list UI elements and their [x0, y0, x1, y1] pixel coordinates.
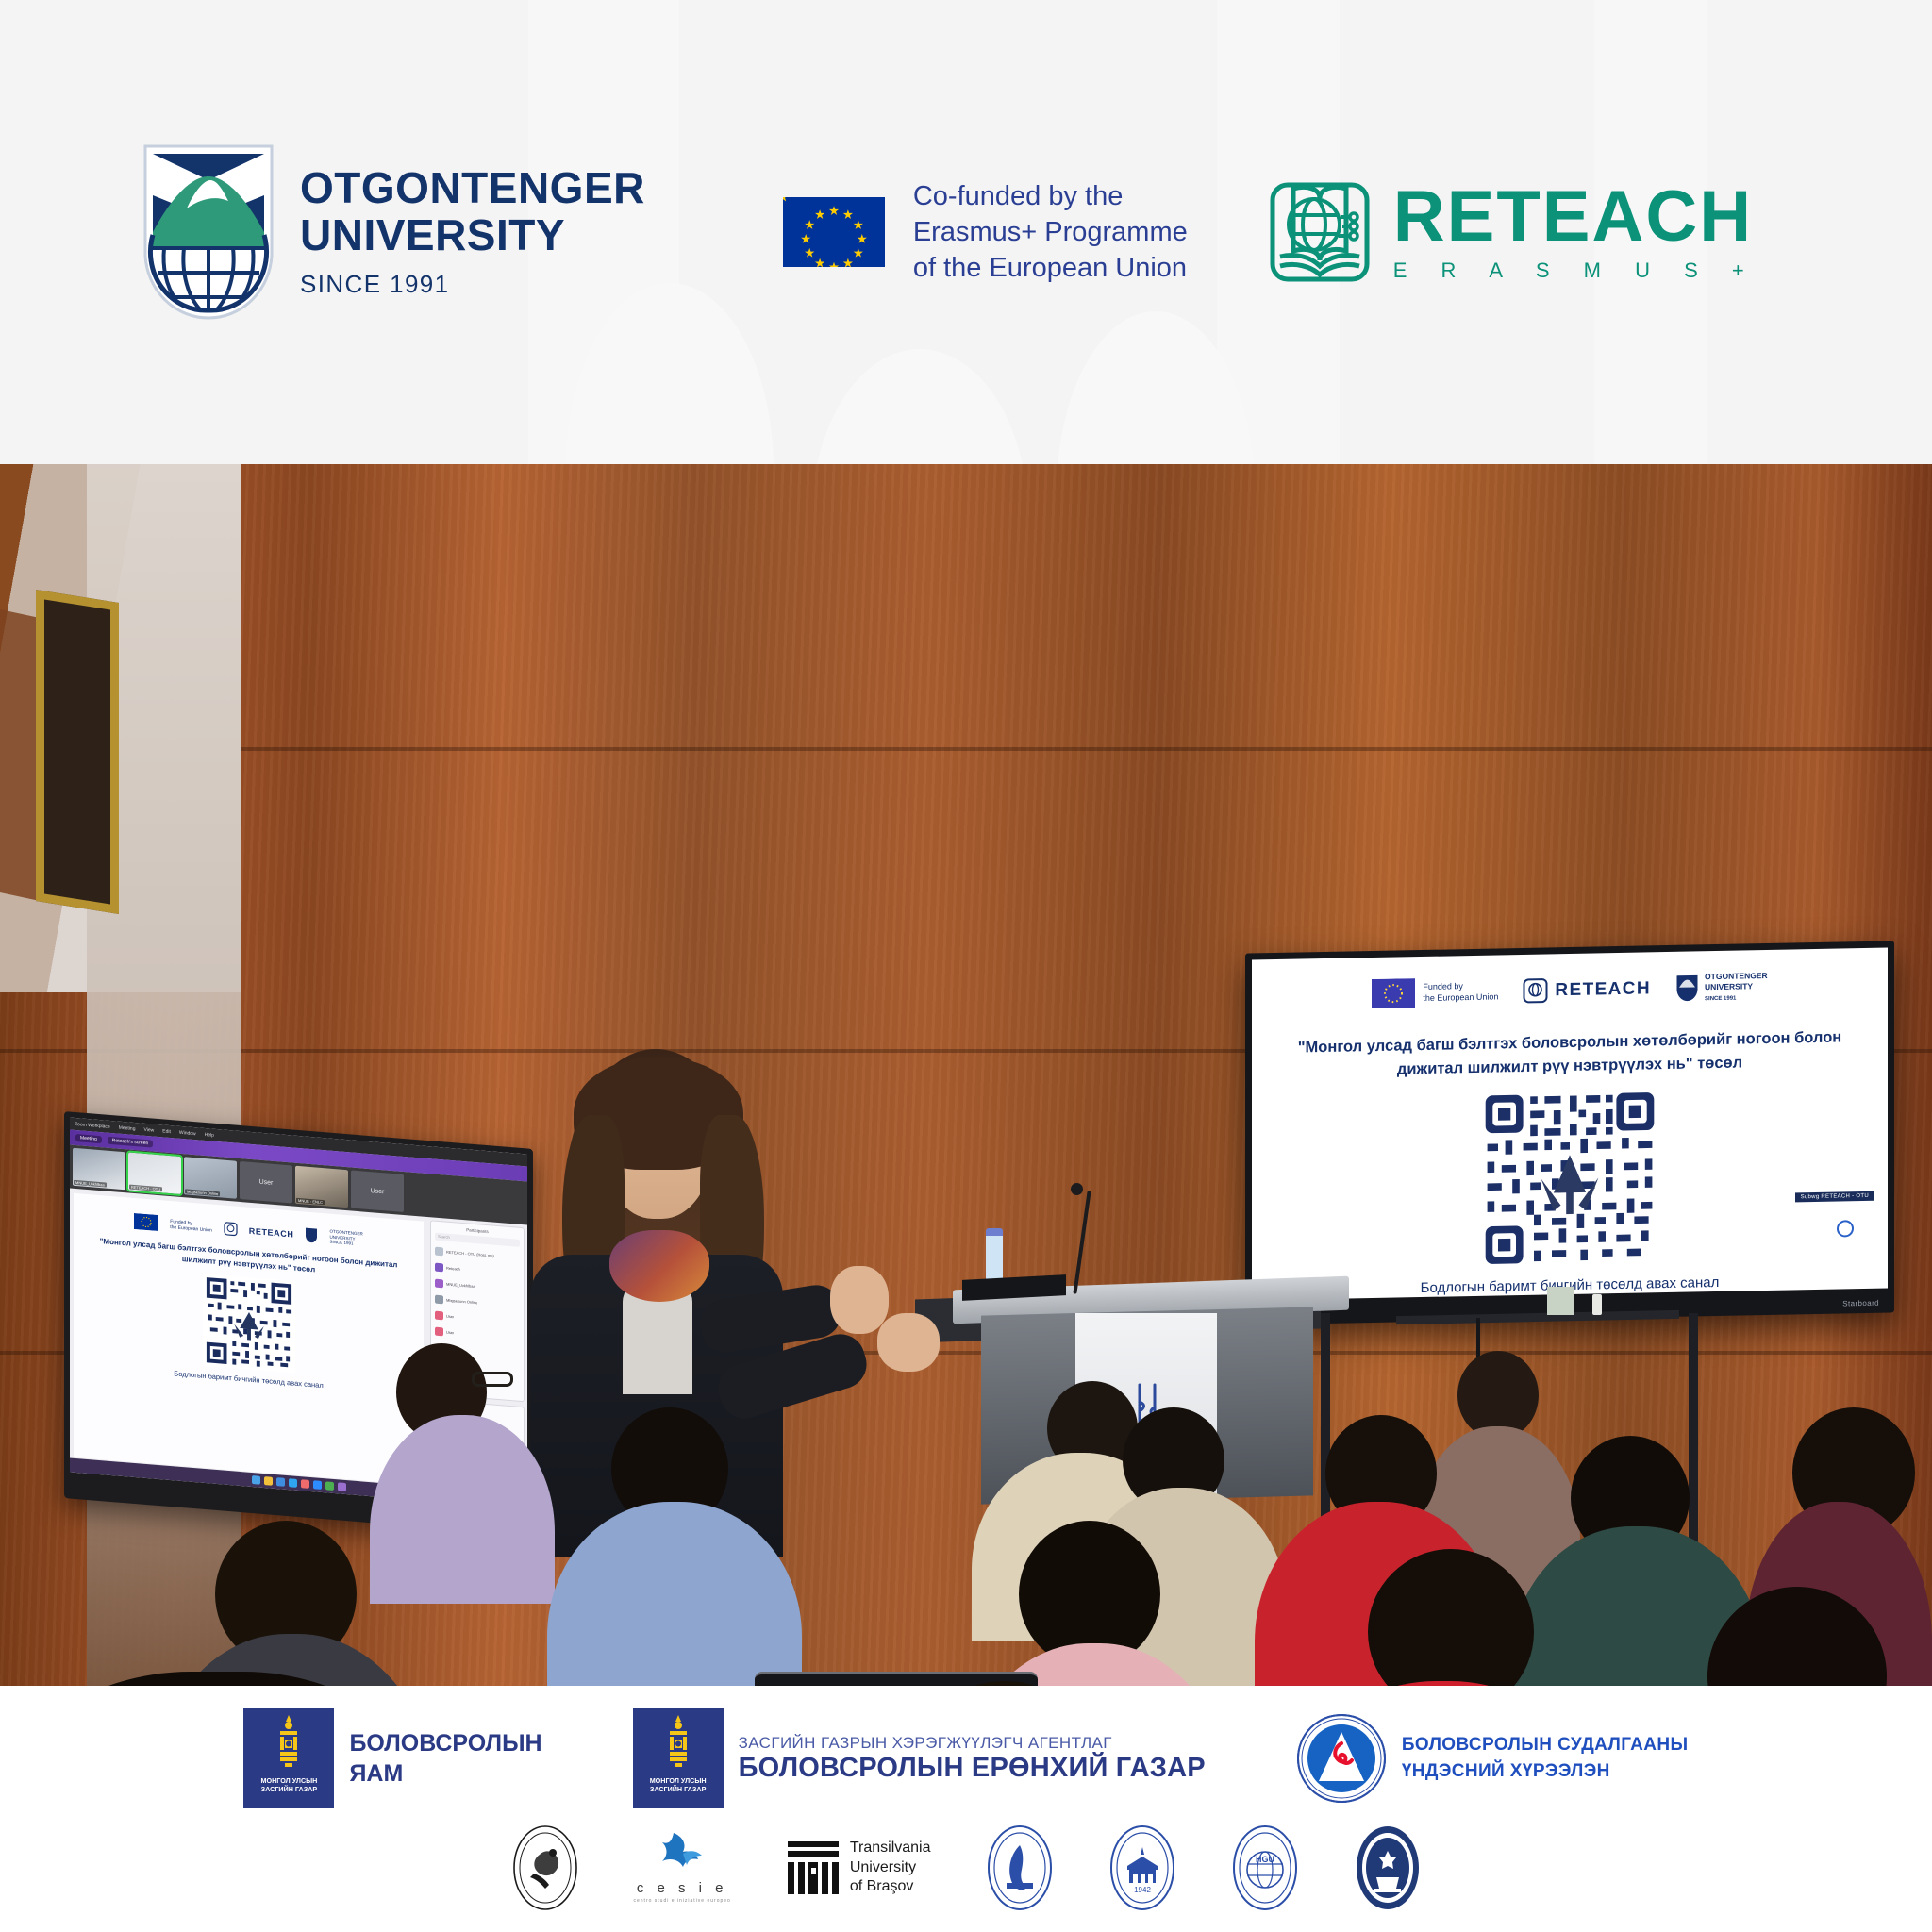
qr-code-right[interactable]	[1480, 1088, 1659, 1271]
soyombo-icon	[666, 1714, 691, 1773]
otu-shield-icon	[305, 1227, 318, 1244]
footer-logo-mongolian-university	[1354, 1829, 1422, 1907]
menu-item-edit[interactable]: Edit	[162, 1128, 171, 1135]
meeting-status-pill: Meeting	[75, 1134, 102, 1143]
otu-logo-line2: UNIVERSITY	[1705, 981, 1753, 991]
transilvania-line2: University	[850, 1858, 931, 1878]
participant-thumbnail[interactable]: RETEACH - OTU	[128, 1152, 181, 1194]
avatar	[435, 1247, 443, 1257]
participant-thumbnail[interactable]: MNUE - ENLC	[295, 1166, 348, 1208]
screen-share-pill: Reteach's screen	[108, 1137, 153, 1148]
menu-item-zoom-workplace[interactable]: Zoom Workplace	[75, 1121, 110, 1129]
mongolia-government-emblem-icon: МОНГОЛ УЛСЫН ЗАСГИЙН ГАЗАР	[633, 1708, 724, 1808]
participant-name: RETEACH - OTU (Host, me)	[446, 1250, 494, 1258]
participant-thumbnail[interactable]: MNUE_Uvkhlbaa	[73, 1148, 125, 1191]
university-name-line1: OTGONTENGER	[300, 165, 645, 212]
education-research-institute-seal-icon	[1296, 1713, 1387, 1804]
emblem-line2: ЗАСГИЙН ГАЗАР	[261, 1785, 318, 1793]
dock-icon-finder[interactable]	[252, 1475, 260, 1485]
svg-text:HGU: HGU	[1256, 1855, 1274, 1864]
reteach-icon	[224, 1222, 238, 1237]
soyombo-icon	[276, 1714, 301, 1773]
otu-logo-text: OTGONTENGERUNIVERSITYSINCE 1991	[329, 1229, 362, 1248]
reteach-subtitle: E R A S M U S +	[1393, 258, 1758, 283]
transilvania-line1: Transilvania	[850, 1839, 931, 1858]
footer-ministry-row: МОНГОЛ УЛСЫН ЗАСГИЙН ГАЗАР БОЛОВСРОЛЫН Я…	[0, 1708, 1932, 1808]
participant-name: User	[446, 1330, 454, 1336]
otu-logo-line1: OTGONTENGER	[1705, 971, 1768, 981]
thumbnail-user-label: User	[240, 1161, 292, 1204]
otgontenger-shield-icon	[142, 142, 275, 322]
eu-logo-line2: the European Union	[1423, 991, 1498, 1003]
eyeglasses-icon	[472, 1372, 513, 1387]
university-since: SINCE 1991	[300, 270, 645, 299]
european-union-flag-icon	[783, 197, 885, 267]
speaker-hand-left	[830, 1266, 889, 1334]
global-university-seal-icon: HGU	[1231, 1824, 1299, 1911]
thumbnail-label: RETEACH - OTU	[129, 1185, 162, 1192]
eu-logo-line1: Funded by	[1423, 981, 1463, 991]
whiteboard-session-badge: Subwg RETEACH - OTU	[1795, 1191, 1874, 1203]
avatar	[435, 1279, 443, 1289]
institute-label-line2: ҮНДЭСНИЙ ХҮРЭЭЛЭН	[1402, 1758, 1689, 1785]
university-of-padua-seal-icon	[511, 1824, 579, 1911]
footer-partner-universities: c e s i e centro studi e iniziative euro…	[0, 1829, 1932, 1907]
participant-thumbnail[interactable]: User	[240, 1161, 292, 1204]
emblem-line2: ЗАСГИЙН ГАЗАР	[650, 1785, 707, 1793]
whiteboard-stand	[1689, 1313, 1698, 1549]
otgontenger-university-logo: OTGONTENGER UNIVERSITY SINCE 1991	[142, 142, 645, 322]
qr-code-left[interactable]	[203, 1274, 295, 1374]
eu-flag-icon	[134, 1213, 158, 1231]
water-bottle	[986, 1228, 1003, 1281]
agency-title: БОЛОВСРОЛЫН ЕРӨНХИЙ ГАЗАР	[739, 1753, 1206, 1784]
reteach-wordmark: RETEACH	[1393, 181, 1758, 253]
menu-item-view[interactable]: View	[144, 1126, 155, 1133]
avatar	[435, 1295, 443, 1305]
slide-logo-row-right: Funded by the European Union RETEACH	[1252, 969, 1888, 1013]
dock-icon-zoom[interactable]	[313, 1480, 322, 1490]
dock-icon-files[interactable]	[338, 1482, 346, 1491]
agency-subtitle: ЗАСГИЙН ГАЗРЫН ХЭРЭГЖҮҮЛЭГЧ АГЕНТЛАГ	[739, 1734, 1206, 1753]
shelf-box	[1547, 1287, 1574, 1315]
framed-picture	[36, 590, 119, 914]
footer-logo-ministry-of-education: МОНГОЛ УЛСЫН ЗАСГИЙН ГАЗАР БОЛОВСРОЛЫН Я…	[243, 1708, 541, 1808]
participant-thumbnail[interactable]: User	[351, 1170, 404, 1212]
dock-icon-photos[interactable]	[301, 1479, 309, 1489]
reteach-logo: RETEACH E R A S M U S +	[1269, 181, 1758, 283]
footer-logo-transilvania-university: Transilvania University of Braşov	[786, 1829, 931, 1907]
participant-name: Reteach	[446, 1266, 460, 1272]
eu-flag-icon	[1372, 979, 1415, 1009]
avatar	[435, 1263, 443, 1273]
university-name-line2: UNIVERSITY	[300, 212, 645, 259]
menu-item-window[interactable]: Window	[179, 1129, 196, 1136]
poster-page: OTGONTENGER UNIVERSITY SINCE 1991	[0, 0, 1932, 1932]
mnue-seal-icon	[986, 1824, 1054, 1911]
avatar	[435, 1327, 443, 1337]
shared-slide-left: Funded bythe European Union RETEACH OTGO…	[74, 1193, 424, 1486]
emblem-line1: МОНГОЛ УЛСЫН	[650, 1776, 707, 1785]
thumbnail-label: MNUE_Uvkhlbaa	[74, 1180, 107, 1188]
reteach-logo-text: RETEACH	[249, 1225, 294, 1239]
footer-logo-mandakh-global-university: HGU	[1231, 1829, 1299, 1907]
eu-funding-text: Co-funded by the Erasmus+ Programme of t…	[913, 178, 1188, 287]
participant-name: MNUE_Uvkhlbaa	[446, 1282, 475, 1289]
speaker-hand-right	[877, 1313, 940, 1372]
reteach-logo-text: RETEACH	[1555, 978, 1651, 1001]
dock-icon-safari[interactable]	[289, 1478, 297, 1488]
microphone-head-icon	[1071, 1183, 1083, 1195]
footer-logo-cesie: c e s i e centro studi e iniziative euro…	[634, 1829, 731, 1907]
institute-label-line1: БОЛОВСРОЛЫН СУДАЛГААНЫ	[1402, 1732, 1689, 1758]
eu-text-line1: Co-funded by the	[913, 178, 1188, 214]
participant-name: Mbgsesunn Online	[446, 1298, 477, 1306]
cesie-subtitle: centro studi e iniziative europeo	[634, 1898, 731, 1904]
footer-logo-general-authority-education: МОНГОЛ УЛСЫН ЗАСГИЙН ГАЗАР ЗАСГИЙН ГАЗРЫ…	[633, 1708, 1206, 1808]
reteach-book-globe-icon	[1269, 181, 1371, 283]
ministry-label-line2: ЯАМ	[349, 1758, 541, 1790]
footer-partners: МОНГОЛ УЛСЫН ЗАСГИЙН ГАЗАР БОЛОВСРОЛЫН Я…	[0, 1686, 1932, 1932]
university-seal-icon	[1354, 1824, 1422, 1911]
thumbnail-label: Mbgsesunn Online	[185, 1189, 220, 1196]
slide-title-right: "Монгол улсад багш бэлтгэх боловсролын х…	[1290, 1025, 1850, 1083]
university-1942-seal-icon: 1942	[1108, 1824, 1176, 1911]
right-interactive-whiteboard[interactable]: Funded by the European Union RETEACH	[1245, 941, 1894, 1324]
participant-thumbnail[interactable]: Mbgsesunn Online	[184, 1157, 237, 1199]
shelf-bottle	[1592, 1294, 1602, 1315]
right-screen-display: Funded by the European Union RETEACH	[1252, 948, 1888, 1301]
reteach-icon	[1523, 978, 1548, 1005]
speaker-scarf	[609, 1230, 709, 1302]
cesie-wordmark: c e s i e	[637, 1880, 728, 1896]
svg-text:1942: 1942	[1134, 1886, 1151, 1894]
dock-icon-notes[interactable]	[264, 1476, 273, 1486]
dock-icon-mail[interactable]	[276, 1477, 285, 1487]
otu-shield-icon	[1675, 974, 1699, 1002]
footer-logo-mnue	[986, 1829, 1054, 1907]
header-banner: OTGONTENGER UNIVERSITY SINCE 1991	[0, 0, 1932, 464]
avatar	[435, 1311, 443, 1321]
participant-name: User	[446, 1314, 454, 1320]
whiteboard-cursor-icon	[1837, 1220, 1854, 1237]
emblem-line1: МОНГОЛ УЛСЫН	[261, 1776, 318, 1785]
event-photograph: Zoom Workplace Meeting View Edit Window …	[0, 464, 1932, 1686]
eu-text-line2: Erasmus+ Programme	[913, 214, 1188, 250]
thumbnail-label: MNUE - ENLC	[296, 1198, 325, 1205]
footer-logo-education-research-institute: БОЛОВСРОЛЫН СУДАЛГААНЫ ҮНДЭСНИЙ ХҮРЭЭЛЭН	[1296, 1713, 1689, 1804]
transilvania-bars-icon	[786, 1840, 841, 1896]
eu-text-line3: of the European Union	[913, 250, 1188, 286]
whiteboard-brand-label: Starboard	[1842, 1299, 1879, 1308]
cesie-bird-icon	[655, 1829, 709, 1878]
footer-logo-mongolian-university-1942: 1942	[1108, 1829, 1176, 1907]
menu-item-meeting[interactable]: Meeting	[119, 1124, 136, 1131]
menu-item-help[interactable]: Help	[205, 1131, 214, 1138]
thumbnail-user-label: User	[351, 1170, 404, 1212]
eu-cofunding-logo: Co-funded by the Erasmus+ Programme of t…	[783, 178, 1188, 287]
ministry-label-line1: БОЛОВСРОЛЫН	[349, 1728, 541, 1759]
otu-logo-line3: SINCE 1991	[1705, 996, 1736, 1003]
dock-icon-chrome[interactable]	[325, 1481, 334, 1491]
mongolia-government-emblem-icon: МОНГОЛ УЛСЫН ЗАСГИЙН ГАЗАР	[243, 1708, 334, 1808]
footer-logo-university-of-padua	[511, 1829, 579, 1907]
transilvania-line3: of Braşov	[850, 1877, 931, 1897]
eu-logo-text: Funded bythe European Union	[170, 1219, 211, 1234]
